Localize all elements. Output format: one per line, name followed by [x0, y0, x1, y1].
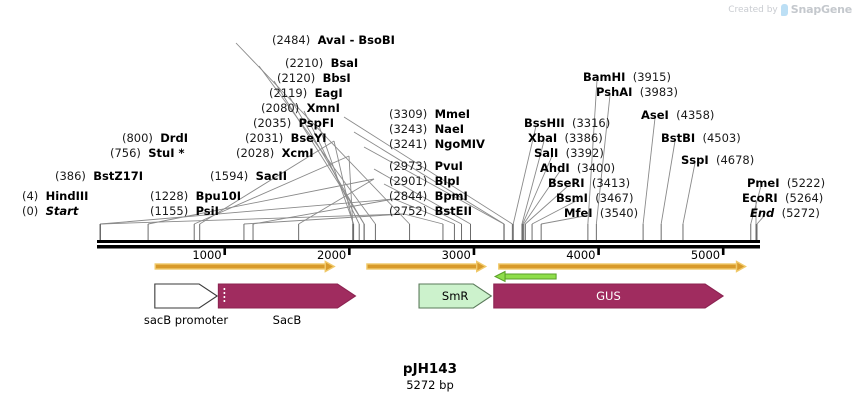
enzyme-label-BsmI: BsmI (3467) [556, 192, 633, 204]
site-enzyme: XcmI [282, 146, 314, 160]
site-position: (5222) [787, 176, 825, 190]
ruler-label-2000: 2000 [313, 248, 346, 262]
enzyme-label-Bpu10I: (1228) Bpu10I [150, 190, 241, 202]
site-enzyme: PshAI [596, 85, 632, 99]
site-enzyme: BbsI [323, 71, 351, 85]
site-enzyme: BsaI [331, 56, 359, 70]
site-position: (2484) [272, 33, 310, 47]
orf-arrowhead [477, 262, 486, 272]
enzyme-label-DrdI: (800) DrdI [122, 132, 188, 144]
site-position: (3540) [600, 206, 638, 220]
site-position: (2752) [389, 204, 427, 218]
enzyme-label-End: End (5272) [750, 207, 820, 219]
enzyme-label-BstBI: BstBI (4503) [661, 132, 741, 144]
orf-arrow [155, 262, 334, 272]
enzyme-label-XcmI: (2028) XcmI [236, 147, 314, 159]
enzyme-label-BssHII: BssHII (3316) [524, 117, 610, 129]
orf-shaft [499, 264, 737, 269]
site-enzyme: PmeI [747, 176, 780, 190]
site-enzyme: Start [46, 204, 79, 218]
site-position: (2901) [389, 174, 427, 188]
site-enzyme: Bpu10I [196, 189, 241, 203]
site-position: (4358) [676, 108, 714, 122]
site-position: (2120) [277, 71, 315, 85]
leader-line [643, 118, 655, 224]
enzyme-label-BstZ17I: (386) BstZ17I [55, 170, 143, 182]
site-enzyme: XbaI [528, 131, 557, 145]
ruler-label-5000: 5000 [687, 248, 720, 262]
site-position: (3316) [572, 116, 610, 130]
enzyme-label-SacII: (1594) SacII [210, 170, 287, 182]
orf-arrowhead [737, 262, 746, 272]
small-arrow-head [495, 272, 505, 282]
orf-shaft [367, 264, 477, 269]
site-position: (2028) [236, 146, 274, 160]
site-enzyme: BseYI [291, 131, 327, 145]
site-position: (3392) [566, 146, 604, 160]
site-enzyme: BstZ17I [93, 169, 143, 183]
ruler-label-3000: 3000 [438, 248, 471, 262]
site-enzyme: XmnI [307, 101, 340, 115]
enzyme-label-BsaI: (2210) BsaI [285, 57, 358, 69]
enzyme-label-PsiI: (1155) PsiI [150, 205, 219, 217]
site-enzyme: BstEII [435, 204, 473, 218]
site-position: (3467) [595, 191, 633, 205]
site-position: (800) [122, 131, 153, 145]
site-enzyme: AvaI - BsoBI [318, 33, 395, 47]
site-enzyme: EagI [315, 86, 343, 100]
plasmid-title: pJH143 [0, 361, 860, 377]
site-enzyme: AseI [641, 108, 669, 122]
enzyme-label-PshAI: PshAI (3983) [596, 86, 678, 98]
site-position: (756) [110, 146, 141, 160]
site-enzyme: BseRI [548, 176, 585, 190]
orf-arrows-group [155, 262, 745, 272]
site-enzyme: SspI [681, 153, 709, 167]
site-enzyme: BssHII [524, 116, 565, 130]
enzyme-label-XmnI: (2080) XmnI [261, 102, 340, 114]
site-position: (1594) [210, 169, 248, 183]
site-enzyme: DrdI [160, 131, 188, 145]
ruler-tick [722, 246, 725, 255]
site-position: (2031) [245, 131, 283, 145]
site-enzyme: BsmI [556, 191, 588, 205]
site-enzyme: SalI [534, 146, 558, 160]
orf-shaft [155, 264, 325, 269]
site-enzyme: PvuI [435, 159, 463, 173]
orf-arrow [499, 262, 746, 272]
site-position: (3243) [389, 122, 427, 136]
site-enzyme: BlpI [435, 174, 460, 188]
site-position: (1155) [150, 204, 188, 218]
enzyme-label-HindIII: (4) HindIII [22, 190, 88, 202]
site-enzyme: MmeI [435, 107, 471, 121]
enzyme-label-BamHI: BamHI (3915) [583, 71, 671, 83]
site-enzyme: BpmI [435, 189, 468, 203]
enzyme-label-Start: (0) Start [22, 205, 78, 217]
site-position: (2080) [261, 101, 299, 115]
ruler-tick [223, 246, 226, 255]
enzyme-label-XbaI: XbaI (3386) [528, 132, 603, 144]
site-position: (2210) [285, 56, 323, 70]
site-position: (3413) [592, 176, 630, 190]
site-position: (2844) [389, 189, 427, 203]
site-position: (386) [55, 169, 86, 183]
enzyme-label-BlpI: (2901) BlpI [389, 175, 460, 187]
site-enzyme: BamHI [583, 70, 625, 84]
enzyme-label-MmeI: (3309) MmeI [389, 108, 470, 120]
enzyme-label-NgoMIV: (3241) NgoMIV [389, 138, 485, 150]
site-position: (4) [22, 189, 38, 203]
enzyme-label-PvuI: (2973) PvuI [389, 160, 463, 172]
site-enzyme: PsiI [196, 204, 219, 218]
small-promoter-arrow [495, 272, 556, 282]
site-position: (2035) [253, 116, 291, 130]
ruler-label-4000: 4000 [562, 248, 595, 262]
site-position: (3983) [640, 85, 678, 99]
enzyme-label-SspI: SspI (4678) [681, 154, 754, 166]
enzyme-label-PspFI: (2035) PspFI [253, 117, 334, 129]
cut-site-ticks-group [100, 224, 757, 240]
site-enzyme: AhdI [540, 161, 570, 175]
site-enzyme: MfeI [564, 206, 593, 220]
site-enzyme: End [750, 206, 774, 220]
site-position: (2973) [389, 159, 427, 173]
enzyme-label-BstEII: (2752) BstEII [389, 205, 472, 217]
site-enzyme: BstBI [661, 131, 695, 145]
enzyme-label-AvaIBsoBI: (2484) AvaI - BsoBI [272, 34, 395, 46]
site-position: (0) [22, 204, 38, 218]
site-position: (4678) [716, 153, 754, 167]
enzyme-label-EagI: (2119) EagI [269, 87, 343, 99]
ruler-tick [348, 246, 351, 255]
enzyme-label-StuI: (756) StuI * [110, 147, 185, 159]
site-position: (3915) [633, 70, 671, 84]
enzyme-label-AhdI: AhdI (3400) [540, 162, 615, 174]
site-position: (2119) [269, 86, 307, 100]
feature-label-GUS: GUS [178, 289, 860, 303]
site-position: (3309) [389, 107, 427, 121]
enzyme-label-MfeI: MfeI (3540) [564, 207, 638, 219]
enzyme-label-BpmI: (2844) BpmI [389, 190, 468, 202]
site-enzyme: NaeI [435, 122, 464, 136]
enzyme-label-NaeI: (3243) NaeI [389, 123, 464, 135]
leader-line [244, 214, 404, 224]
site-position: (3241) [389, 137, 427, 151]
enzyme-label-SalI: SalI (3392) [534, 147, 604, 159]
site-enzyme: NgoMIV [435, 137, 485, 151]
enzyme-label-EcoRI: EcoRI (5264) [742, 192, 823, 204]
backbone-line-top [97, 240, 760, 243]
orf-arrowhead [325, 262, 334, 272]
enzyme-label-AseI: AseI (4358) [641, 109, 714, 121]
site-enzyme: EcoRI [742, 191, 778, 205]
site-position: (3386) [564, 131, 602, 145]
enzyme-label-BseYI: (2031) BseYI [245, 132, 327, 144]
leader-line [683, 163, 695, 224]
site-position: (1228) [150, 189, 188, 203]
ruler-tick [597, 246, 600, 255]
ruler-label-1000: 1000 [189, 248, 222, 262]
site-enzyme: HindIII [46, 189, 89, 203]
feature-label-SacB: SacB [0, 313, 717, 327]
site-position: (5272) [782, 206, 820, 220]
plasmid-length: 5272 bp [0, 378, 860, 392]
site-position: (3400) [577, 161, 615, 175]
enzyme-label-BbsI: (2120) BbsI [277, 72, 351, 84]
small-arrow-shaft [505, 274, 556, 279]
site-position: (5264) [785, 191, 823, 205]
enzyme-label-BseRI: BseRI (3413) [548, 177, 630, 189]
site-position: (4503) [702, 131, 740, 145]
site-enzyme: SacII [256, 169, 287, 183]
enzyme-label-PmeI: PmeI (5222) [747, 177, 825, 189]
leader-line [661, 141, 675, 224]
orf-arrow [367, 262, 486, 272]
site-enzyme: StuI * [148, 146, 184, 160]
ruler-tick [473, 246, 476, 255]
site-enzyme: PspFI [299, 116, 334, 130]
